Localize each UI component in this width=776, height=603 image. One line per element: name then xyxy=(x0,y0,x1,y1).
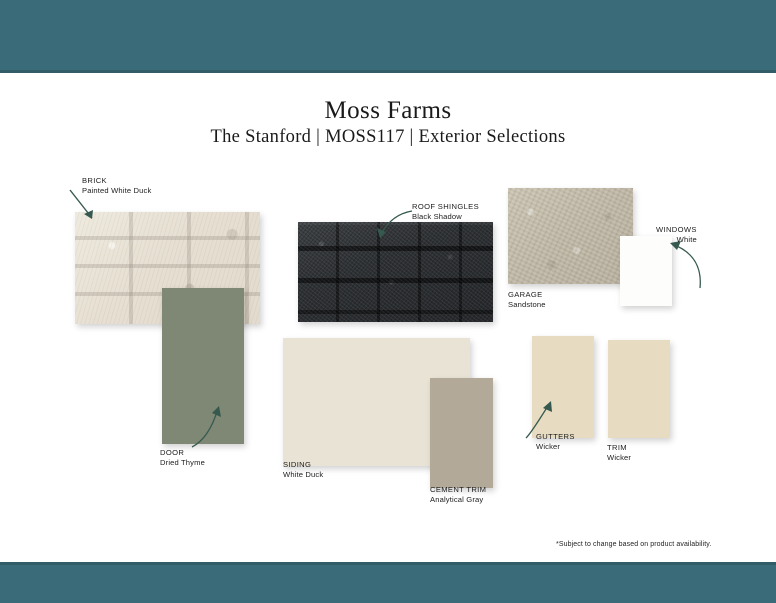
top-banner xyxy=(0,0,776,73)
label-brick-title: BRICK xyxy=(82,176,151,186)
footnote-disclaimer: *Subject to change based on product avai… xyxy=(556,541,711,548)
label-roof-shingles-title: ROOF SHINGLES xyxy=(412,202,479,212)
title-block: Moss Farms The Stanford | MOSS117 | Exte… xyxy=(0,98,776,148)
bottom-banner xyxy=(0,562,776,603)
label-windows-value: White xyxy=(656,235,697,245)
label-windows-title: WINDOWS xyxy=(656,225,697,235)
swatch-trim xyxy=(608,340,670,438)
swatch-roof-shingles xyxy=(298,222,493,322)
label-cement-trim-title: CEMENT TRIM xyxy=(430,485,486,495)
label-door: DOOR Dried Thyme xyxy=(160,448,205,468)
label-siding-title: SIDING xyxy=(283,460,323,470)
label-garage-title: GARAGE xyxy=(508,290,546,300)
label-brick-value: Painted White Duck xyxy=(82,186,151,196)
page-title: Moss Farms xyxy=(0,98,776,124)
label-garage-value: Sandstone xyxy=(508,300,546,310)
label-trim-value: Wicker xyxy=(607,453,631,463)
swatch-door xyxy=(162,288,244,444)
label-siding: SIDING White Duck xyxy=(283,460,323,480)
label-gutters: GUTTERS Wicker xyxy=(536,432,575,452)
page-subtitle: The Stanford | MOSS117 | Exterior Select… xyxy=(0,127,776,148)
label-gutters-value: Wicker xyxy=(536,442,575,452)
label-roof-shingles-value: Black Shadow xyxy=(412,212,479,222)
label-gutters-title: GUTTERS xyxy=(536,432,575,442)
label-brick: BRICK Painted White Duck xyxy=(82,176,151,196)
windows-pointer-arrow xyxy=(666,238,706,292)
label-door-title: DOOR xyxy=(160,448,205,458)
swatch-cement-trim xyxy=(430,378,493,488)
label-cement-trim-value: Analytical Gray xyxy=(430,495,486,505)
label-trim: TRIM Wicker xyxy=(607,443,631,463)
label-door-value: Dried Thyme xyxy=(160,458,205,468)
swatch-garage xyxy=(508,188,633,284)
swatch-windows xyxy=(620,236,672,306)
label-roof-shingles: ROOF SHINGLES Black Shadow xyxy=(412,202,479,222)
label-trim-title: TRIM xyxy=(607,443,631,453)
swatch-gutters xyxy=(532,336,594,438)
label-garage: GARAGE Sandstone xyxy=(508,290,546,310)
label-windows: WINDOWS White xyxy=(656,225,697,245)
label-cement-trim: CEMENT TRIM Analytical Gray xyxy=(430,485,486,505)
label-siding-value: White Duck xyxy=(283,470,323,480)
selection-board: Moss Farms The Stanford | MOSS117 | Exte… xyxy=(0,0,776,600)
